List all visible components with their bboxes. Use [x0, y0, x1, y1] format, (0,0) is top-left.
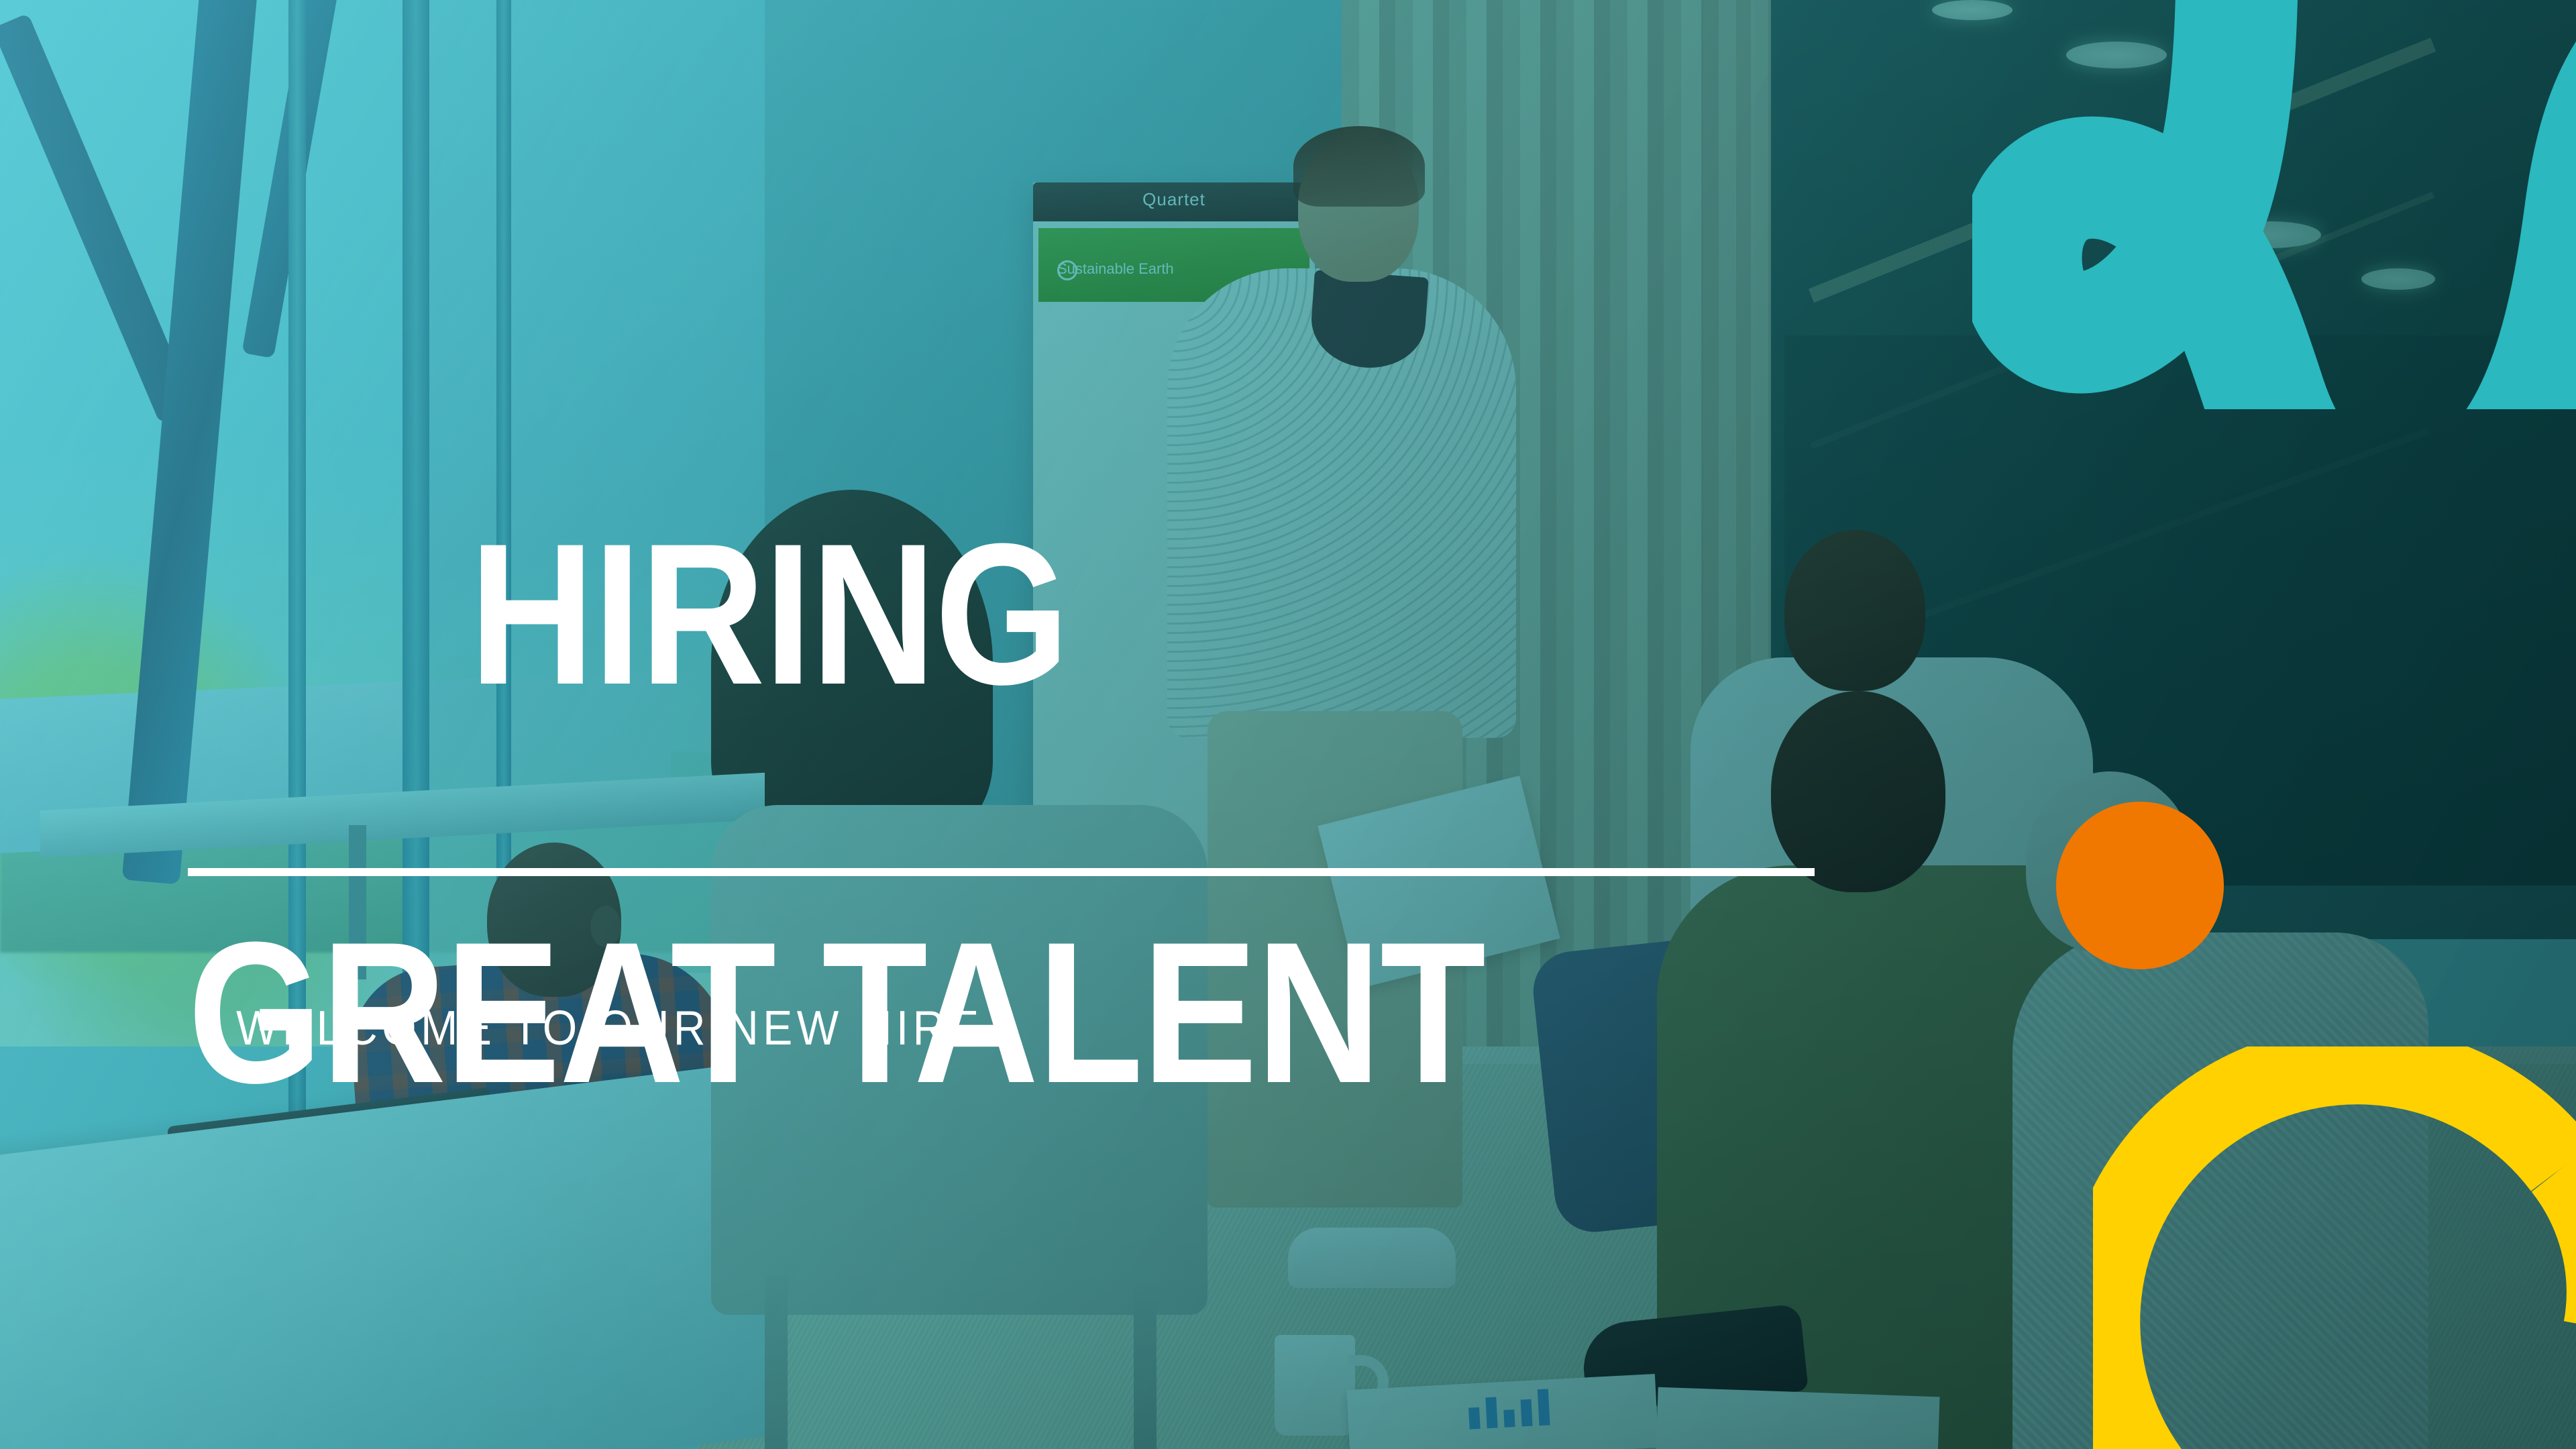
title-divider-rule [188, 868, 1815, 876]
hiring-poster: Quartet Sustainable Earth [0, 0, 2576, 1449]
subtitle: WELCOME TO OUR NEW HIRE [236, 1001, 983, 1056]
headline-line-1: HIRING [470, 501, 1069, 727]
poster-content: HIRING GREAT TALENT WELCOME TO OUR NEW H… [0, 0, 2576, 1449]
page-title: HIRING GREAT TALENT [188, 315, 1485, 1449]
